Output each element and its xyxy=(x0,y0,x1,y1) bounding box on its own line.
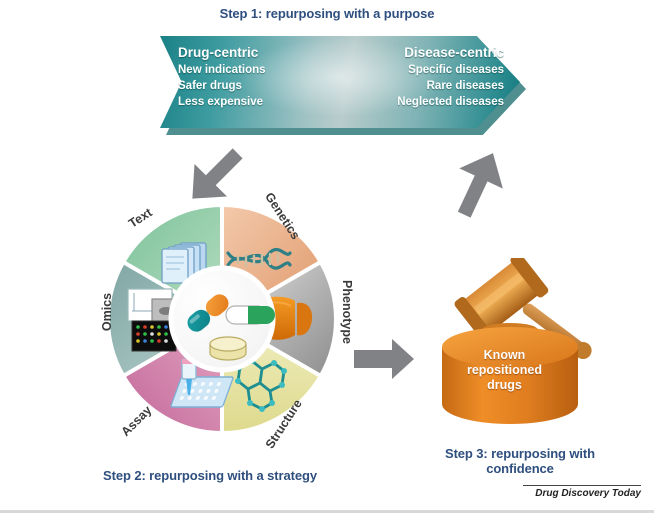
credit-text: Drug Discovery Today xyxy=(523,488,641,499)
drug-centric-item: Safer drugs xyxy=(178,78,266,94)
disease-centric-item: Neglected diseases xyxy=(397,94,504,110)
arrow-up-left-icon xyxy=(448,146,510,225)
arrow-right-icon xyxy=(352,337,416,386)
credit-rule xyxy=(523,485,641,486)
known-repositioned-drugs-panel xyxy=(430,258,605,433)
drug-centric-heading: Drug-centric xyxy=(178,44,266,61)
drug-centric-column: Drug-centric New indications Safer drugs… xyxy=(178,44,266,128)
tablet-icon xyxy=(226,306,275,324)
wheel-label-phenotype: Phenotype xyxy=(340,280,354,344)
journal-credit: Drug Discovery Today xyxy=(523,485,641,499)
step1-title: Step 1: repurposing with a purpose xyxy=(0,6,654,21)
petri-dish-icon xyxy=(210,337,246,360)
purpose-banner: Drug-centric New indications Safer drugs… xyxy=(160,36,520,128)
drug-centric-item: New indications xyxy=(178,62,266,78)
strategy-wheel: Genetics Phenotype Structure Assay Omics… xyxy=(104,201,340,437)
disease-centric-heading: Disease-centric xyxy=(404,44,504,61)
disease-centric-column: Disease-centric Specific diseases Rare d… xyxy=(397,44,504,128)
figure-canvas: Step 1: repurposing with a purpose Drug-… xyxy=(0,0,654,513)
step3-title: Step 3: repurposing with confidence xyxy=(420,446,620,476)
wheel-label-omics: Omics xyxy=(100,293,114,331)
drug-centric-item: Less expensive xyxy=(178,94,266,110)
disease-centric-item: Rare diseases xyxy=(427,78,504,94)
disease-centric-item: Specific diseases xyxy=(408,62,504,78)
cylinder-label: Known repositioned drugs xyxy=(452,348,557,393)
step2-title: Step 2: repurposing with a strategy xyxy=(40,468,380,483)
